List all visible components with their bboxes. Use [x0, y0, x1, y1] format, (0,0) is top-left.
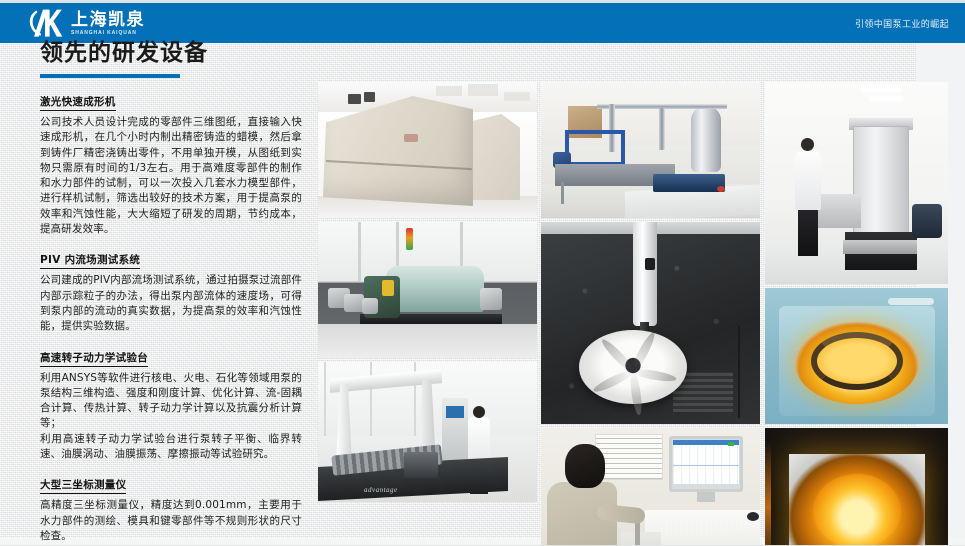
section-rotor-dynamics: 高速转子动力学试验台 利用ANSYS等软件进行核电、火电、石化等领域用泵的泵结构…: [40, 348, 302, 463]
bench-leg: [561, 182, 564, 204]
section-heading: PIV 内流场测试系统: [40, 253, 140, 269]
monitor-stand: [697, 492, 715, 502]
header-tagline: 引领中国泵工业的崛起: [855, 3, 949, 43]
white-impeller: [579, 330, 687, 404]
equipment-label: [888, 298, 934, 305]
cmm-brand-label: advantage: [364, 486, 398, 494]
yellow-guard: [382, 280, 394, 296]
aux-motor: [344, 294, 364, 312]
cmm-quill: [633, 222, 657, 326]
office-chair: [912, 204, 942, 238]
photo-operator-console[interactable]: DBLF 操作员在试验机控制台前操作键盘与显示器: [541, 428, 760, 546]
ceiling-tile: [468, 84, 498, 96]
mouse: [747, 512, 759, 521]
title-underline-rule: [40, 74, 180, 78]
testing-machine-frame: [853, 126, 909, 234]
slide-page: 上海凯泉 SHANGHAI KAIQUAN 引领中国泵工业的崛起 领先的研发设备…: [0, 0, 965, 546]
ceiling-light: [869, 96, 903, 101]
ceiling-tile: [504, 92, 530, 101]
photo-cmm-impeller-probe[interactable]: 三坐标测量仪探针检测白色叶轮（花岗岩平台）: [541, 222, 760, 424]
section-body: 利用ANSYS等软件进行核电、火电、石化等领域用泵的泵结构三维构造、强度和刚度计…: [40, 371, 302, 463]
impeller-blade: [591, 367, 634, 394]
molten-glow: [813, 474, 901, 546]
operator-head: [565, 444, 605, 488]
section-body: 公司技术人员设计完成的零部件三维图纸，直接输入快速成形机，在几个小时内制出精密铸…: [40, 115, 302, 237]
section-piv-system: PIV 内流场测试系统 公司建成的PIV内部流场测试系统，通过拍摄泵过流部件内部…: [40, 250, 302, 334]
laser-indicator: [717, 186, 725, 192]
operator-head: [473, 406, 485, 418]
andon-status-light: [406, 228, 413, 250]
pressure-tank: [691, 106, 721, 172]
impeller-blade: [632, 367, 677, 384]
vertical-pipe: [659, 108, 665, 150]
section-body: 公司建成的PIV内部流场测试系统，通过拍摄泵过流部件内部示踪粒子的办法，得出泵内…: [40, 273, 302, 334]
photo-universal-testing-machine[interactable]: 万能材料试验机与穿白大褂的技术人员: [765, 82, 948, 284]
calibration-sphere-stand: [645, 258, 655, 270]
photo-induction-heating-ring[interactable]: 感应加热发光环件（俯视）: [765, 288, 948, 424]
machine-label: [404, 134, 418, 142]
window-mullion: [324, 362, 326, 436]
photo-mosaic: 激光快速成形机 — 米色大型设备位于洁净实验室 PIV 内流场测试系统 — 不锈…: [318, 82, 948, 502]
concrete-pad: [843, 240, 917, 254]
page-title: 领先的研发设备: [40, 38, 302, 68]
logo-chinese-name: 上海凯泉: [71, 11, 145, 30]
edge-glow: [765, 442, 771, 546]
status-indicator: [728, 442, 734, 446]
section-cmm: 大型三坐标测量仪 高精度三坐标测量仪，精度达到0.001mm，主要用于水力部件的…: [40, 475, 302, 544]
testing-machine-body: [621, 532, 661, 546]
site-header: 上海凯泉 SHANGHAI KAIQUAN 引领中国泵工业的崛起: [0, 3, 965, 43]
heated-ring-inner: [811, 332, 903, 390]
section-body: 高精度三坐标测量仪，精度达到0.001mm，主要用于水力部件的测绘、模具和键零部…: [40, 498, 302, 544]
ceiling-tile: [436, 86, 462, 96]
blue-support-frame: [565, 130, 625, 166]
probe-cable: [738, 326, 740, 418]
section-heading: 激光快速成形机: [40, 95, 116, 111]
section-laser-forming: 激光快速成形机 公司技术人员设计完成的零部件三维图纸，直接输入快速成形机，在几个…: [40, 92, 302, 237]
kaiquan-k-monogram-icon: [26, 8, 64, 40]
floor: [318, 324, 537, 358]
section-heading: 大型三坐标测量仪: [40, 478, 126, 494]
photo-rotor-dynamics-bench[interactable]: 高速转子动力学试验台 — 绿色电机机组: [318, 222, 537, 358]
impeller-blade: [599, 337, 636, 375]
aux-motor: [362, 298, 378, 314]
impeller-blade: [629, 331, 658, 374]
machine-vent: [348, 94, 361, 104]
photo-large-cmm-shaft[interactable]: advantage 大型三坐标测量仪测量泵轴，操作员在旁: [318, 362, 537, 502]
ceiling-light: [861, 86, 901, 92]
photo-laser-forming-machine[interactable]: 激光快速成形机 — 米色大型设备位于洁净实验室: [318, 82, 537, 218]
control-desk: [817, 194, 861, 228]
brand-logo[interactable]: 上海凯泉 SHANGHAI KAIQUAN: [26, 8, 145, 40]
content-column: 领先的研发设备 激光快速成形机 公司技术人员设计完成的零部件三维图纸，直接输入快…: [40, 38, 302, 546]
monitor-screen: [673, 440, 739, 484]
window-mullion: [370, 362, 372, 436]
photo-furnace-glow[interactable]: 炉内工件加热发出橙黄色光: [765, 428, 948, 546]
aux-motor: [480, 288, 502, 310]
technician-legs: [798, 208, 818, 256]
cabinet-screen: [446, 406, 464, 418]
machine-vent: [364, 92, 375, 102]
wall-chart: [595, 434, 663, 480]
machine-main-enclosure: [323, 96, 473, 206]
shaft-fixture: [404, 452, 438, 478]
piv-laser-head: [653, 174, 725, 192]
window-mullion: [358, 222, 361, 282]
logo-english-name: SHANGHAI KAIQUAN: [71, 30, 145, 37]
photo-piv-test-rig[interactable]: PIV 内流场测试系统 — 不锈钢管路、蓝色支架与激光器: [541, 82, 760, 218]
green-motor-housing: [386, 266, 484, 312]
technician-lab-coat: [795, 150, 821, 210]
section-heading: 高速转子动力学试验台: [40, 351, 148, 367]
technician-head: [801, 138, 814, 151]
